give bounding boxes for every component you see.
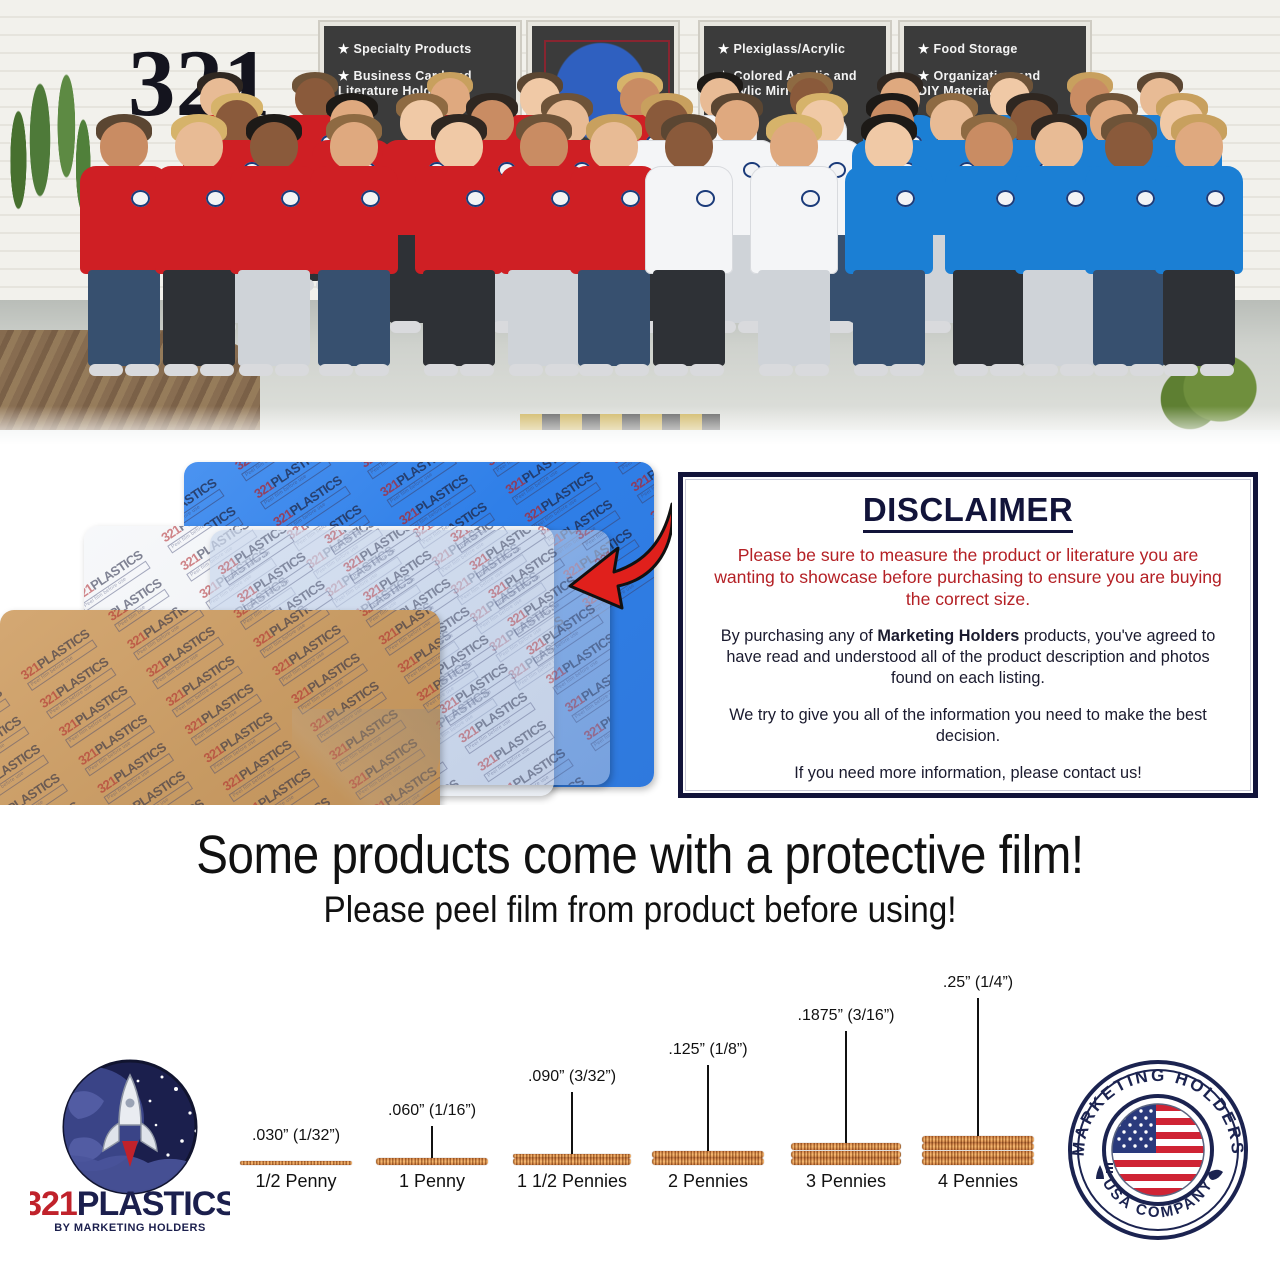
- legs: [578, 270, 651, 366]
- logo-patch: [996, 190, 1015, 207]
- shirt: [845, 166, 933, 274]
- staff-member: [1105, 122, 1153, 170]
- legs: [853, 270, 926, 366]
- thickness-label: .090” (3/32”): [528, 1068, 616, 1086]
- penny-stack-column: .030” (1/32”)1/2 Penny: [240, 1161, 352, 1192]
- shirt: [645, 166, 733, 274]
- protective-film-product-image: 321PLASTICSPeel film before use321PLASTI…: [0, 460, 672, 805]
- shoe: [424, 364, 458, 376]
- staff-member: [175, 122, 223, 170]
- logo-patch: [466, 190, 485, 207]
- thickness-label: .25” (1/4”): [943, 974, 1013, 992]
- peeling-corner: [292, 709, 440, 805]
- shoe: [1130, 364, 1164, 376]
- logo-word: PLASTICS: [77, 1185, 230, 1223]
- kraft-paper-sheet: 321PLASTICSPeel film before use321PLASTI…: [0, 610, 440, 805]
- head: [770, 122, 818, 170]
- logo-patch: [896, 190, 915, 207]
- shoe: [460, 364, 494, 376]
- shoe: [1164, 364, 1198, 376]
- penny-edge: [240, 1161, 352, 1165]
- staff-member: [100, 122, 148, 170]
- penny-count-label: 2 Pennies: [652, 1171, 764, 1192]
- red-arrow-icon: [560, 494, 672, 614]
- penny-stack-column: .25” (1/4”)4 Pennies: [922, 1136, 1034, 1193]
- staff-member: [520, 122, 568, 170]
- penny-stack-column: .060” (1/16”)1 Penny: [376, 1158, 488, 1192]
- 321plastics-logo: 321PLASTICS BY MARKETING HOLDERS: [30, 1055, 230, 1240]
- shoe: [795, 364, 829, 376]
- shoe: [355, 364, 389, 376]
- legs: [423, 270, 496, 366]
- shirt: [1155, 166, 1243, 274]
- legs: [238, 270, 311, 366]
- shirt: [310, 166, 398, 274]
- disclaimer-red-paragraph: Please be sure to measure the product or…: [709, 544, 1227, 610]
- head: [965, 122, 1013, 170]
- head: [250, 122, 298, 170]
- staff-member: [865, 122, 913, 170]
- coin-stack: [240, 1161, 352, 1165]
- headline: Some products come with a protective fil…: [77, 824, 1203, 886]
- penny-edge: [922, 1158, 1034, 1165]
- logo-tagline: BY MARKETING HOLDERS: [54, 1222, 206, 1234]
- logo-patch: [1206, 190, 1225, 207]
- penny-edge: [791, 1151, 901, 1158]
- staff-member: [665, 122, 713, 170]
- head: [590, 122, 638, 170]
- penny-count-label: 1 1/2 Pennies: [513, 1171, 631, 1192]
- penny-count-label: 1 Penny: [376, 1171, 488, 1192]
- thickness-label: .030” (1/32”): [252, 1127, 340, 1145]
- shoe: [990, 364, 1024, 376]
- staff-member: [1175, 122, 1223, 170]
- penny-edge: [652, 1158, 764, 1165]
- shoe: [1094, 364, 1128, 376]
- usa-silhouette-icon: [1208, 1170, 1223, 1180]
- shoe: [654, 364, 688, 376]
- disclaimer-paragraph-2: By purchasing any of Marketing Holders p…: [709, 626, 1227, 689]
- legs: [508, 270, 581, 366]
- thickness-label: .1875” (3/16”): [798, 1007, 895, 1025]
- legs: [653, 270, 726, 366]
- legs: [88, 270, 161, 366]
- marketing-holders-badge: MARKETING HOLDERS USA COMPANY: [1058, 1055, 1258, 1245]
- head: [1035, 122, 1083, 170]
- leader-line: [707, 1065, 709, 1151]
- logo-patch: [621, 190, 640, 207]
- head: [865, 122, 913, 170]
- infographic-page: 321 ★Specialty Products ★Business Card a…: [0, 0, 1280, 1280]
- head: [715, 100, 759, 144]
- staff-member: [435, 122, 483, 170]
- brand-name: Marketing Holders: [877, 627, 1019, 645]
- shoe: [579, 364, 613, 376]
- penny-edge: [652, 1151, 764, 1158]
- shoe: [1024, 364, 1058, 376]
- team-group-photo: 321 ★Specialty Products ★Business Card a…: [0, 0, 1280, 452]
- disclaimer-paragraph-4: If you need more information, please con…: [709, 763, 1227, 784]
- thickness-label: .060” (1/16”): [388, 1102, 476, 1120]
- head: [175, 122, 223, 170]
- shoe: [164, 364, 198, 376]
- penny-edge: [376, 1158, 488, 1165]
- coin-stack: [376, 1158, 488, 1165]
- shoe: [854, 364, 888, 376]
- shirt: [750, 166, 838, 274]
- subheadline: Please peel film from product before usi…: [64, 889, 1216, 931]
- penny-count-label: 4 Pennies: [922, 1171, 1034, 1192]
- shoe: [125, 364, 159, 376]
- staff-member: [715, 100, 759, 144]
- staff-member: [1035, 122, 1083, 170]
- head: [330, 122, 378, 170]
- penny-edge: [791, 1143, 901, 1150]
- legs: [1023, 270, 1096, 366]
- staff-members: [0, 0, 1280, 452]
- staff-member: [590, 122, 638, 170]
- legs: [318, 270, 391, 366]
- penny-count-label: 3 Pennies: [791, 1171, 901, 1192]
- head: [520, 122, 568, 170]
- penny-edge: [922, 1136, 1034, 1143]
- logo-patch: [551, 190, 570, 207]
- legs: [953, 270, 1026, 366]
- head: [1175, 122, 1223, 170]
- head: [665, 122, 713, 170]
- legs: [1093, 270, 1166, 366]
- shoe: [1200, 364, 1234, 376]
- svg-text:321PLASTICS: 321PLASTICS: [30, 1185, 230, 1223]
- disclaimer-title: DISCLAIMER: [863, 491, 1073, 533]
- shoe: [319, 364, 353, 376]
- logo-patch: [801, 190, 820, 207]
- disclaimer-box: DISCLAIMER Please be sure to measure the…: [678, 472, 1258, 798]
- legs: [758, 270, 831, 366]
- leader-line: [845, 1031, 847, 1143]
- logo-patch: [131, 190, 150, 207]
- thickness-label: .125” (1/8”): [668, 1041, 747, 1059]
- staff-member: [250, 122, 298, 170]
- penny-edge: [513, 1154, 631, 1158]
- shoe: [545, 364, 579, 376]
- head: [435, 122, 483, 170]
- legs: [1163, 270, 1236, 366]
- middle-row: 321PLASTICSPeel film before use321PLASTI…: [0, 452, 1280, 812]
- penny-edge: [513, 1158, 631, 1165]
- shoe: [690, 364, 724, 376]
- penny-edge: [922, 1143, 1034, 1150]
- coin-stack: [513, 1154, 631, 1166]
- shoe: [239, 364, 273, 376]
- coin-stack: [652, 1151, 764, 1166]
- shoe: [890, 364, 924, 376]
- logo-patch: [281, 190, 300, 207]
- shoe: [509, 364, 543, 376]
- penny-stack-column: .1875” (3/16”)3 Pennies: [791, 1143, 901, 1192]
- shoe: [275, 364, 309, 376]
- coin-stack: [922, 1136, 1034, 1166]
- penny-count-label: 1/2 Penny: [240, 1171, 352, 1192]
- shoe: [89, 364, 123, 376]
- shirt: [415, 166, 503, 274]
- shoe: [615, 364, 649, 376]
- logo-patch: [206, 190, 225, 207]
- coin-stack: [791, 1143, 901, 1165]
- head: [1105, 122, 1153, 170]
- staff-member: [330, 122, 378, 170]
- logo-patch: [696, 190, 715, 207]
- shirt: [230, 166, 318, 274]
- p2-pre: By purchasing any of: [721, 627, 878, 645]
- shoe: [200, 364, 234, 376]
- leader-line: [977, 998, 979, 1136]
- shoe: [759, 364, 793, 376]
- disclaimer-paragraph-3: We try to give you all of the informatio…: [709, 705, 1227, 747]
- leader-line: [571, 1092, 573, 1154]
- penny-edge: [791, 1158, 901, 1165]
- penny-stack-column: .090” (3/32”)1 1/2 Pennies: [513, 1154, 631, 1193]
- photo-bottom-fade: [0, 406, 1280, 452]
- penny-edge: [922, 1151, 1034, 1158]
- shoe: [954, 364, 988, 376]
- logo-patch: [1136, 190, 1155, 207]
- legs: [163, 270, 236, 366]
- head: [100, 122, 148, 170]
- staff-member: [965, 122, 1013, 170]
- shoe: [1060, 364, 1094, 376]
- staff-member: [770, 122, 818, 170]
- shoe: [390, 321, 421, 333]
- logo-patch: [361, 190, 380, 207]
- logo-num: 321: [30, 1185, 77, 1223]
- logo-patch: [1066, 190, 1085, 207]
- leader-line: [431, 1126, 433, 1158]
- penny-stack-column: .125” (1/8”)2 Pennies: [652, 1151, 764, 1193]
- thickness-penny-scale: 321PLASTICS BY MARKETING HOLDERS: [0, 960, 1280, 1220]
